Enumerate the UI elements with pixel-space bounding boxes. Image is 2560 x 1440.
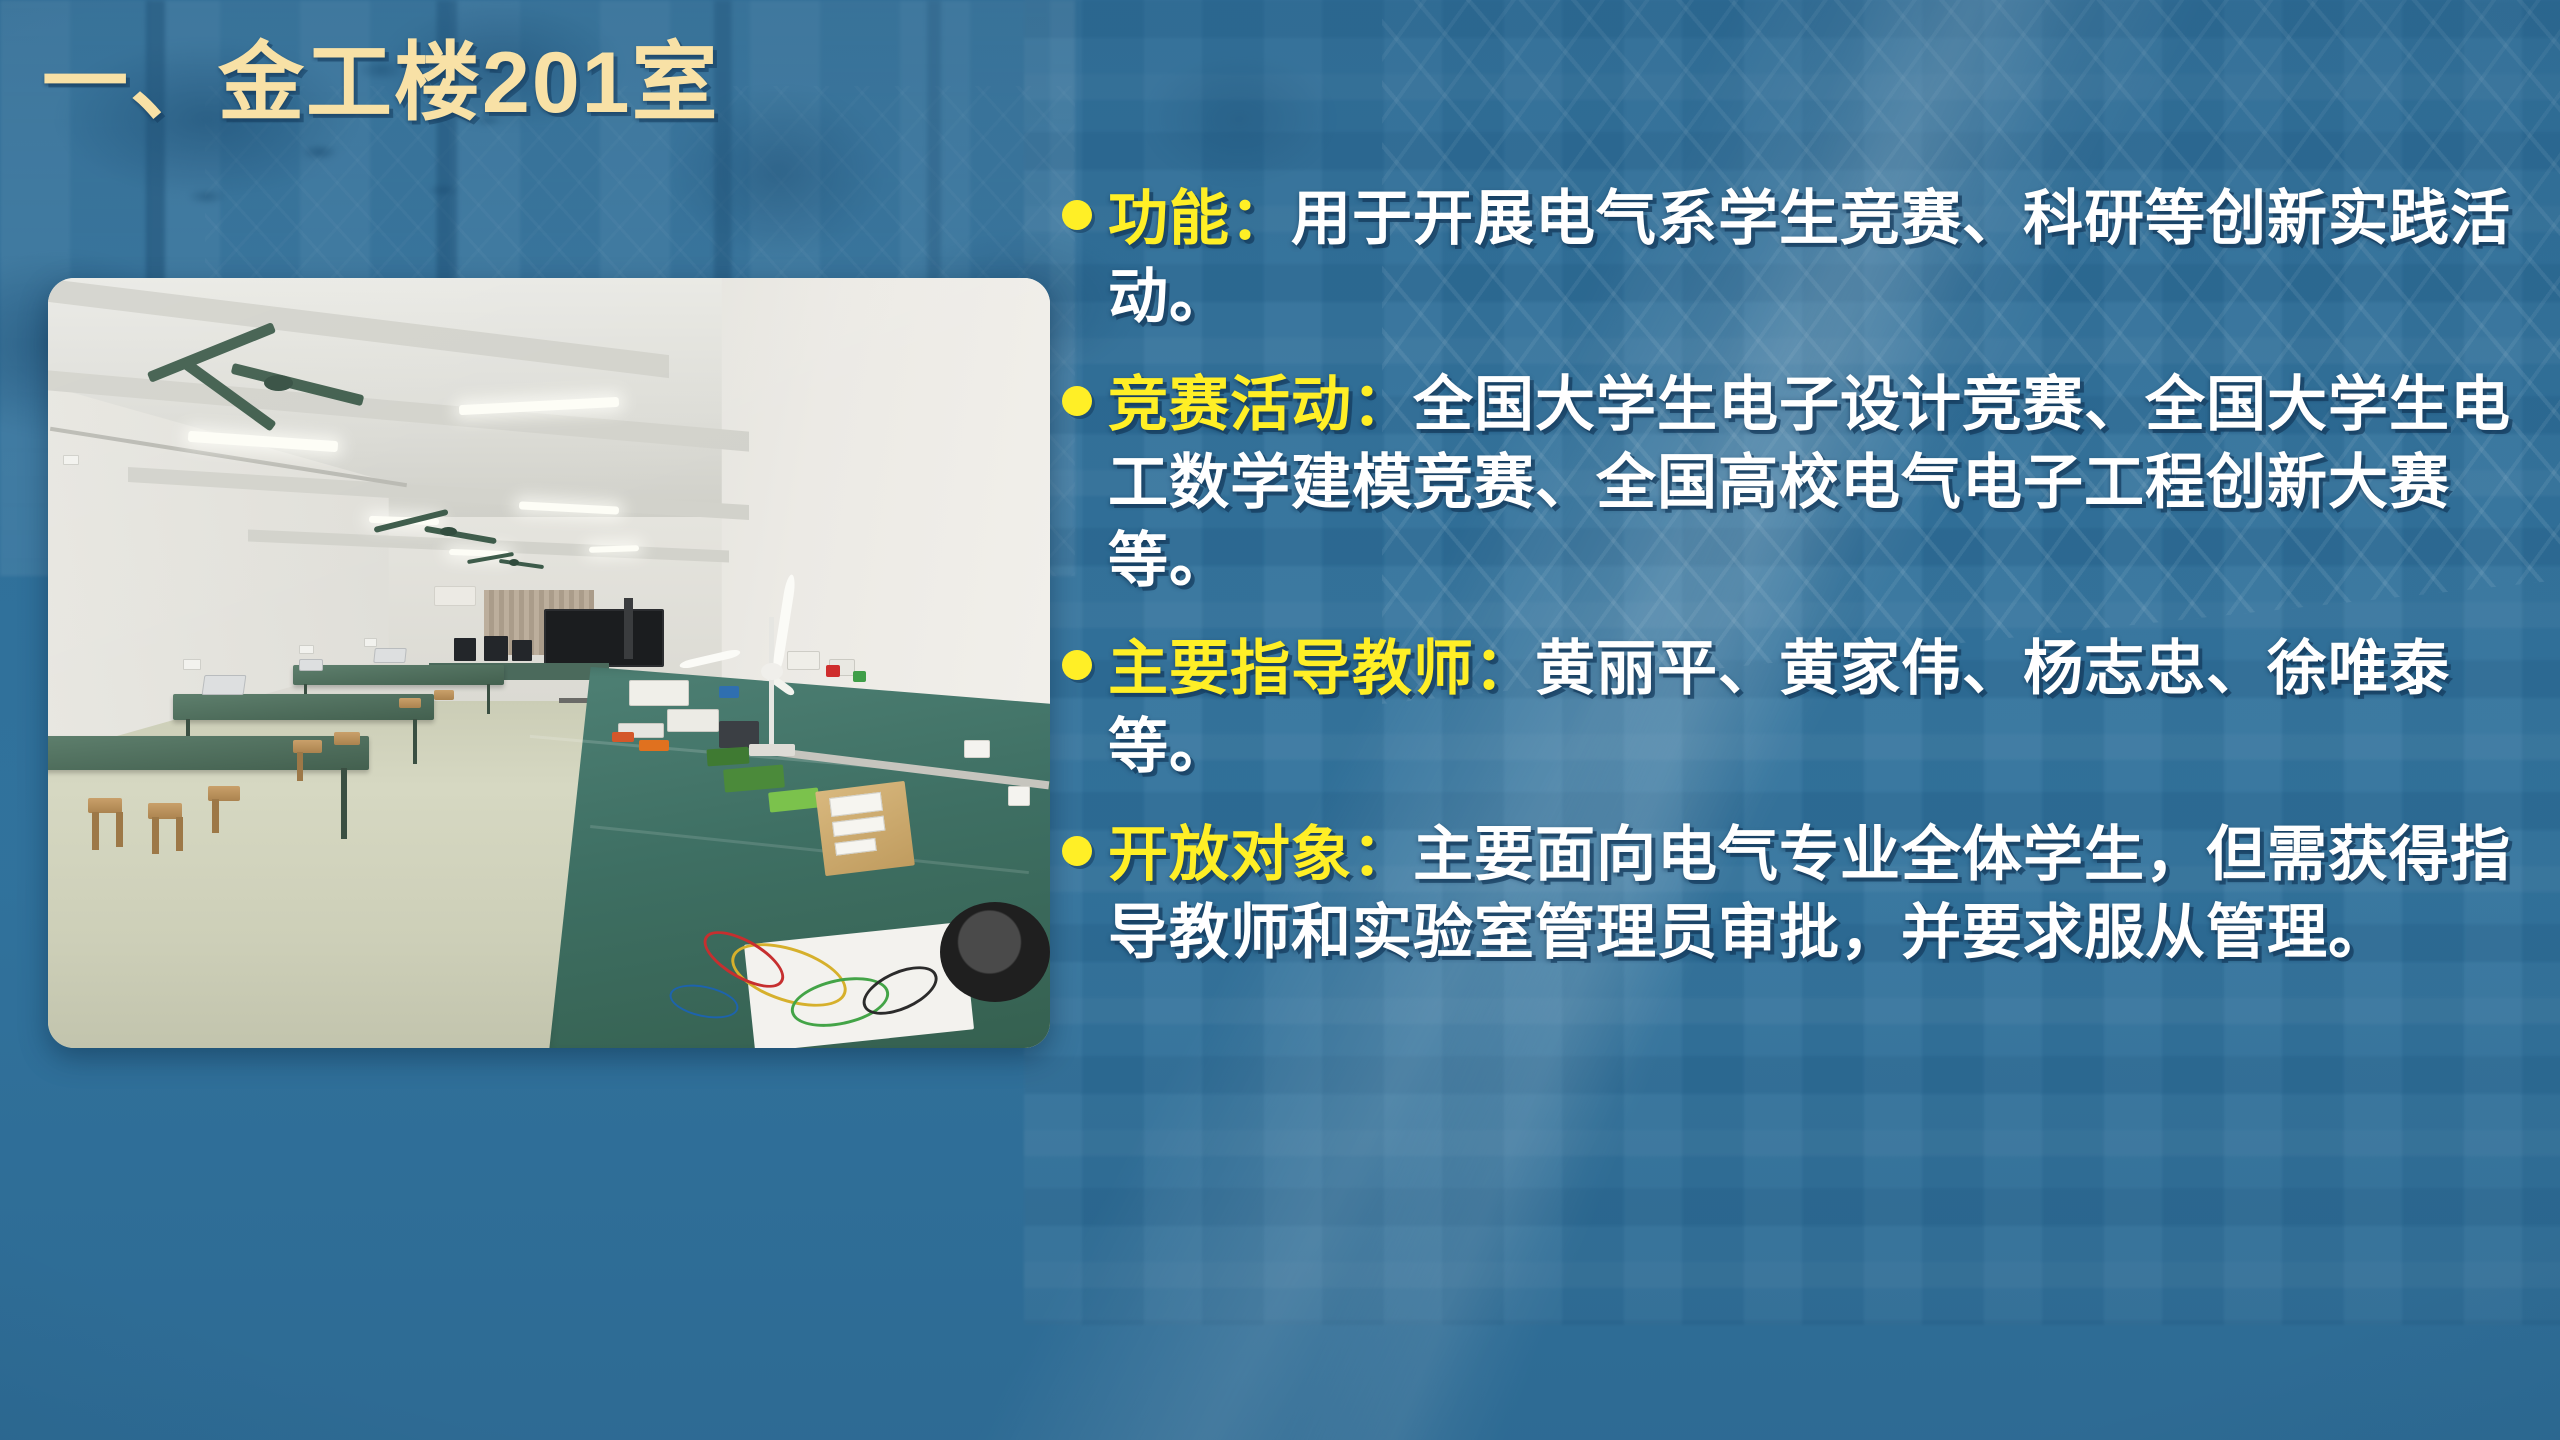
presentation-slide: 一、金工楼201室 bbox=[0, 0, 2560, 1440]
bullet-label: 开放对象： bbox=[1108, 821, 1413, 888]
lab-room-photo bbox=[48, 278, 1050, 1048]
photo-light-sheen bbox=[48, 278, 1050, 1048]
bullet-dot-icon bbox=[1062, 386, 1092, 416]
bullet-dot-icon bbox=[1062, 200, 1092, 230]
bullet-label: 功能： bbox=[1108, 185, 1291, 252]
list-item: 功能：用于开展电气系学生竞赛、科研等创新实践活动。 bbox=[1062, 180, 2538, 336]
list-item: 竞赛活动：全国大学生电子设计竞赛、全国大学生电工数学建模竞赛、全国高校电气电子工… bbox=[1062, 366, 2538, 600]
slide-title: 一、金工楼201室 bbox=[42, 38, 720, 129]
bullet-dot-icon bbox=[1062, 650, 1092, 680]
bullet-dot-icon bbox=[1062, 836, 1092, 866]
bullet-body: 用于开展电气系学生竞赛、科研等创新实践活动。 bbox=[1108, 185, 2511, 330]
list-item: 主要指导教师：黄丽平、黄家伟、杨志忠、徐唯泰等。 bbox=[1062, 630, 2538, 786]
bullet-label: 主要指导教师： bbox=[1108, 635, 1535, 702]
list-item: 开放对象：主要面向电气专业全体学生，但需获得指导教师和实验室管理员审批，并要求服… bbox=[1062, 816, 2538, 972]
bullet-label: 竞赛活动： bbox=[1108, 371, 1413, 438]
bullet-list: 功能：用于开展电气系学生竞赛、科研等创新实践活动。 竞赛活动：全国大学生电子设计… bbox=[1062, 180, 2538, 1002]
